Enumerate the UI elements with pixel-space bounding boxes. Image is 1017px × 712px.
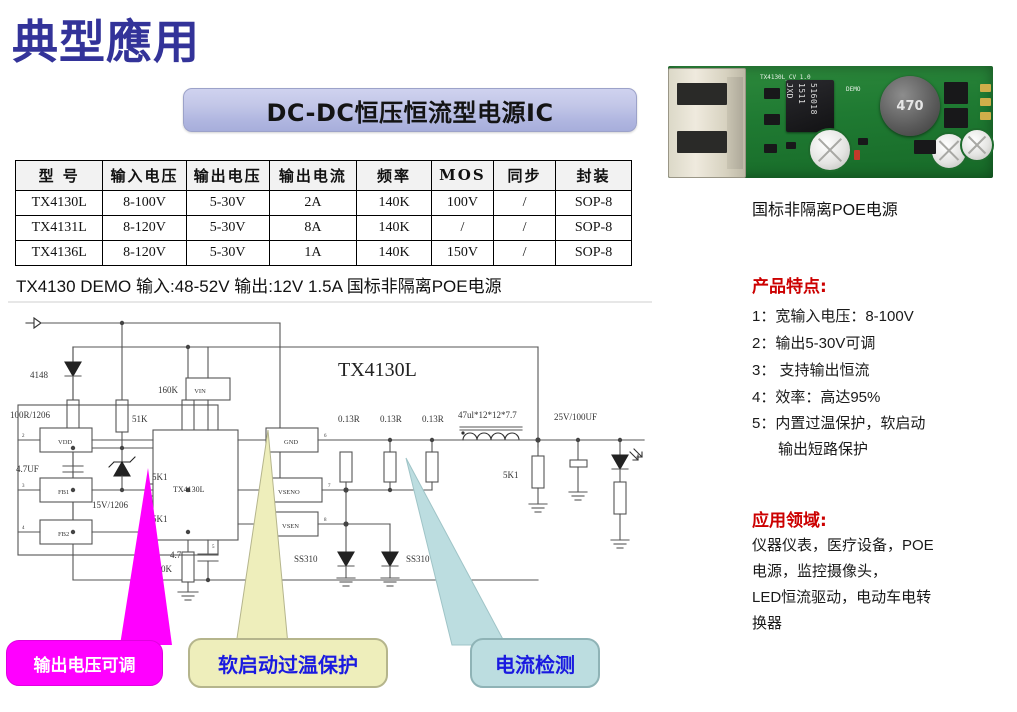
rj45-slot [677, 131, 727, 153]
pin-number-5: 5 [212, 545, 215, 550]
ic-marking-line3: 516018 [809, 83, 818, 115]
label-r5k1-fb2: 5K1 [152, 514, 168, 524]
col-header-vin: 输入电压 [103, 161, 186, 191]
application-line-3: LED恒流驱动，电动车电转 [752, 586, 931, 607]
pcb-photo: TX4130L_CV_1.0 DEMO JXD 1511 516018 470 [658, 58, 1003, 188]
cell-mos: 100V [431, 191, 493, 216]
pin-label-fb1: FB1 [58, 489, 69, 496]
col-header-package: 封装 [556, 161, 632, 191]
table-header-row: 型 号 输入电压 输出电压 输出电流 频率 MOS 同步 封装 [16, 161, 632, 191]
label-r5k1-fb1: 5K1 [152, 472, 168, 482]
pin-number-6: 6 [324, 434, 327, 439]
rj45-side-tab [727, 77, 743, 169]
cell-vout: 5-30V [186, 216, 269, 241]
cell-package: SOP-8 [556, 216, 632, 241]
feature-item-1: 1：宽输入电压：8-100V [752, 305, 914, 326]
feature-item-4: 4：效率：高达95% [752, 386, 880, 407]
col-header-freq: 频率 [357, 161, 432, 191]
rj45-slot [677, 83, 727, 105]
electrolytic-capacitor [960, 128, 994, 162]
spec-table: 型 号 输入电压 输出电压 输出电流 频率 MOS 同步 封装 TX4130L … [15, 160, 632, 266]
label-c47uf: 4.7UF [16, 464, 39, 474]
smd-component [858, 138, 868, 145]
col-header-mos: MOS [431, 161, 493, 191]
rj45-connector [668, 68, 746, 178]
callout-label: 输出电压可调 [34, 651, 136, 676]
label-r100r: 100R/1206 [10, 410, 51, 420]
pin-label-vin: VIN [194, 388, 206, 395]
table-row: TX4136L 8-120V 5-30V 1A 140K 150V / SOP-… [16, 241, 632, 266]
callout-output-voltage-adjustable[interactable]: 输出电压可调 [6, 640, 163, 686]
label-rsense-2: 0.13R [380, 414, 402, 424]
col-header-iout: 输出电流 [269, 161, 356, 191]
ic-marking-line1: JXD [785, 83, 794, 99]
callout-current-sense[interactable]: 电流检测 [470, 638, 600, 688]
header-banner-label: DC-DC恒压恒流型电源IC [266, 93, 553, 128]
label-zener-15v: 15V/1206 [92, 500, 129, 510]
electrolytic-capacitor [808, 128, 852, 172]
pin-label-vdd: VDD [58, 439, 72, 446]
ic-title: TX4130L [338, 359, 417, 381]
col-header-vout: 输出电压 [186, 161, 269, 191]
cell-iout: 2A [269, 191, 356, 216]
cell-mos: 150V [431, 241, 493, 266]
cell-freq: 140K [357, 241, 432, 266]
ic-body-label: TX4130L [173, 485, 205, 494]
label-rsense-1: 0.13R [338, 414, 360, 424]
col-header-model: 型 号 [16, 161, 103, 191]
cell-freq: 140K [357, 216, 432, 241]
solder-pad [980, 112, 991, 120]
callout-label: 电流检测 [495, 649, 575, 678]
label-r5k1-out: 5K1 [503, 470, 519, 480]
circuit-schematic: 4148 100R/1206 4.7UF 51K 160K 15V/1206 5… [8, 300, 652, 610]
cell-model: TX4130L [16, 191, 103, 216]
smd-component [764, 88, 780, 99]
label-ss310-b: SS310 [406, 554, 430, 564]
col-header-sync: 同步 [494, 161, 556, 191]
smd-component [944, 82, 968, 104]
smd-component [914, 140, 936, 154]
label-r160k-top: 160K [158, 385, 179, 395]
smd-component [764, 144, 777, 153]
feature-item-2: 2：输出5-30V可调 [752, 332, 875, 353]
led-indicator [854, 150, 860, 160]
ic-marking-line2: 1511 [797, 83, 806, 104]
pin-label-vseno: VSENO [278, 489, 300, 496]
page-title: 典型應用 [12, 6, 200, 72]
label-cout: 25V/100UF [554, 412, 597, 422]
applications-heading: 应用领域: [752, 506, 827, 531]
label-r51k: 51K [132, 414, 148, 424]
cell-mos: / [431, 216, 493, 241]
feature-item-5: 5：内置过温保护，软启动 [752, 412, 925, 433]
demo-spec-line: TX4130 DEMO 输入:48-52V 输出:12V 1.5A 国标非隔离P… [16, 272, 502, 297]
label-rsense-3: 0.13R [422, 414, 444, 424]
pin-label-gnd: GND [284, 439, 298, 446]
pin-label-vsen: VSEN [282, 523, 299, 530]
pin-number-2: 2 [22, 434, 25, 439]
pin-label-fb2: FB2 [58, 531, 69, 538]
cell-vout: 5-30V [186, 241, 269, 266]
pin-number-8: 8 [324, 518, 327, 523]
cell-model: TX4131L [16, 216, 103, 241]
cell-sync: / [494, 216, 556, 241]
pin-number-4: 4 [22, 526, 25, 531]
label-ss310-a: SS310 [294, 554, 318, 564]
power-inductor: 470 [880, 76, 940, 136]
label-r160k-bot: 160K [152, 564, 173, 574]
cell-sync: / [494, 241, 556, 266]
callout-soft-start-thermal-protection[interactable]: 软启动过温保护 [188, 638, 388, 688]
cell-freq: 140K [357, 191, 432, 216]
table-row: TX4130L 8-100V 5-30V 2A 140K 100V / SOP-… [16, 191, 632, 216]
feature-item-3: 3： 支持输出恒流 [752, 359, 870, 380]
solder-pad [980, 98, 991, 106]
cell-vin: 8-120V [103, 216, 186, 241]
inductor-value-label: 470 [896, 99, 923, 114]
application-line-4: 换器 [752, 612, 782, 633]
cell-model: TX4136L [16, 241, 103, 266]
smd-component [786, 142, 796, 149]
cell-vout: 5-30V [186, 191, 269, 216]
feature-item-5-continued: 输出短路保护 [778, 438, 868, 459]
cell-vin: 8-100V [103, 191, 186, 216]
cell-sync: / [494, 191, 556, 216]
pcb-photo-caption: 国标非隔离POE电源 [752, 196, 898, 220]
application-line-2: 电源，监控摄像头， [752, 560, 887, 581]
cell-package: SOP-8 [556, 241, 632, 266]
table-row: TX4131L 8-120V 5-30V 8A 140K / / SOP-8 [16, 216, 632, 241]
callout-label: 软启动过温保护 [218, 649, 358, 678]
pin-number-3: 3 [22, 484, 25, 489]
solder-pad [980, 84, 991, 92]
pin-number-7: 7 [328, 484, 331, 489]
slide-canvas: 典型應用 DC-DC恒压恒流型电源IC 型 号 输入电压 输出电压 输出电流 频… [0, 0, 1017, 712]
cell-iout: 1A [269, 241, 356, 266]
label-c47: 4.7 [170, 550, 182, 560]
silkscreen-demo: DEMO [846, 86, 860, 93]
smd-component [764, 114, 780, 125]
label-d4148: 4148 [30, 370, 49, 380]
ic-package: JXD 1511 516018 [786, 80, 834, 132]
smd-component [944, 108, 968, 128]
cell-iout: 8A [269, 216, 356, 241]
label-inductor: 47ul*12*12*7.7 [458, 410, 517, 420]
header-banner: DC-DC恒压恒流型电源IC [183, 88, 637, 132]
cell-package: SOP-8 [556, 191, 632, 216]
pcb-board: TX4130L_CV_1.0 DEMO JXD 1511 516018 470 [668, 66, 993, 178]
cell-vin: 8-120V [103, 241, 186, 266]
features-heading: 产品特点: [752, 272, 827, 297]
application-line-1: 仪器仪表，医疗设备，POE [752, 534, 934, 555]
